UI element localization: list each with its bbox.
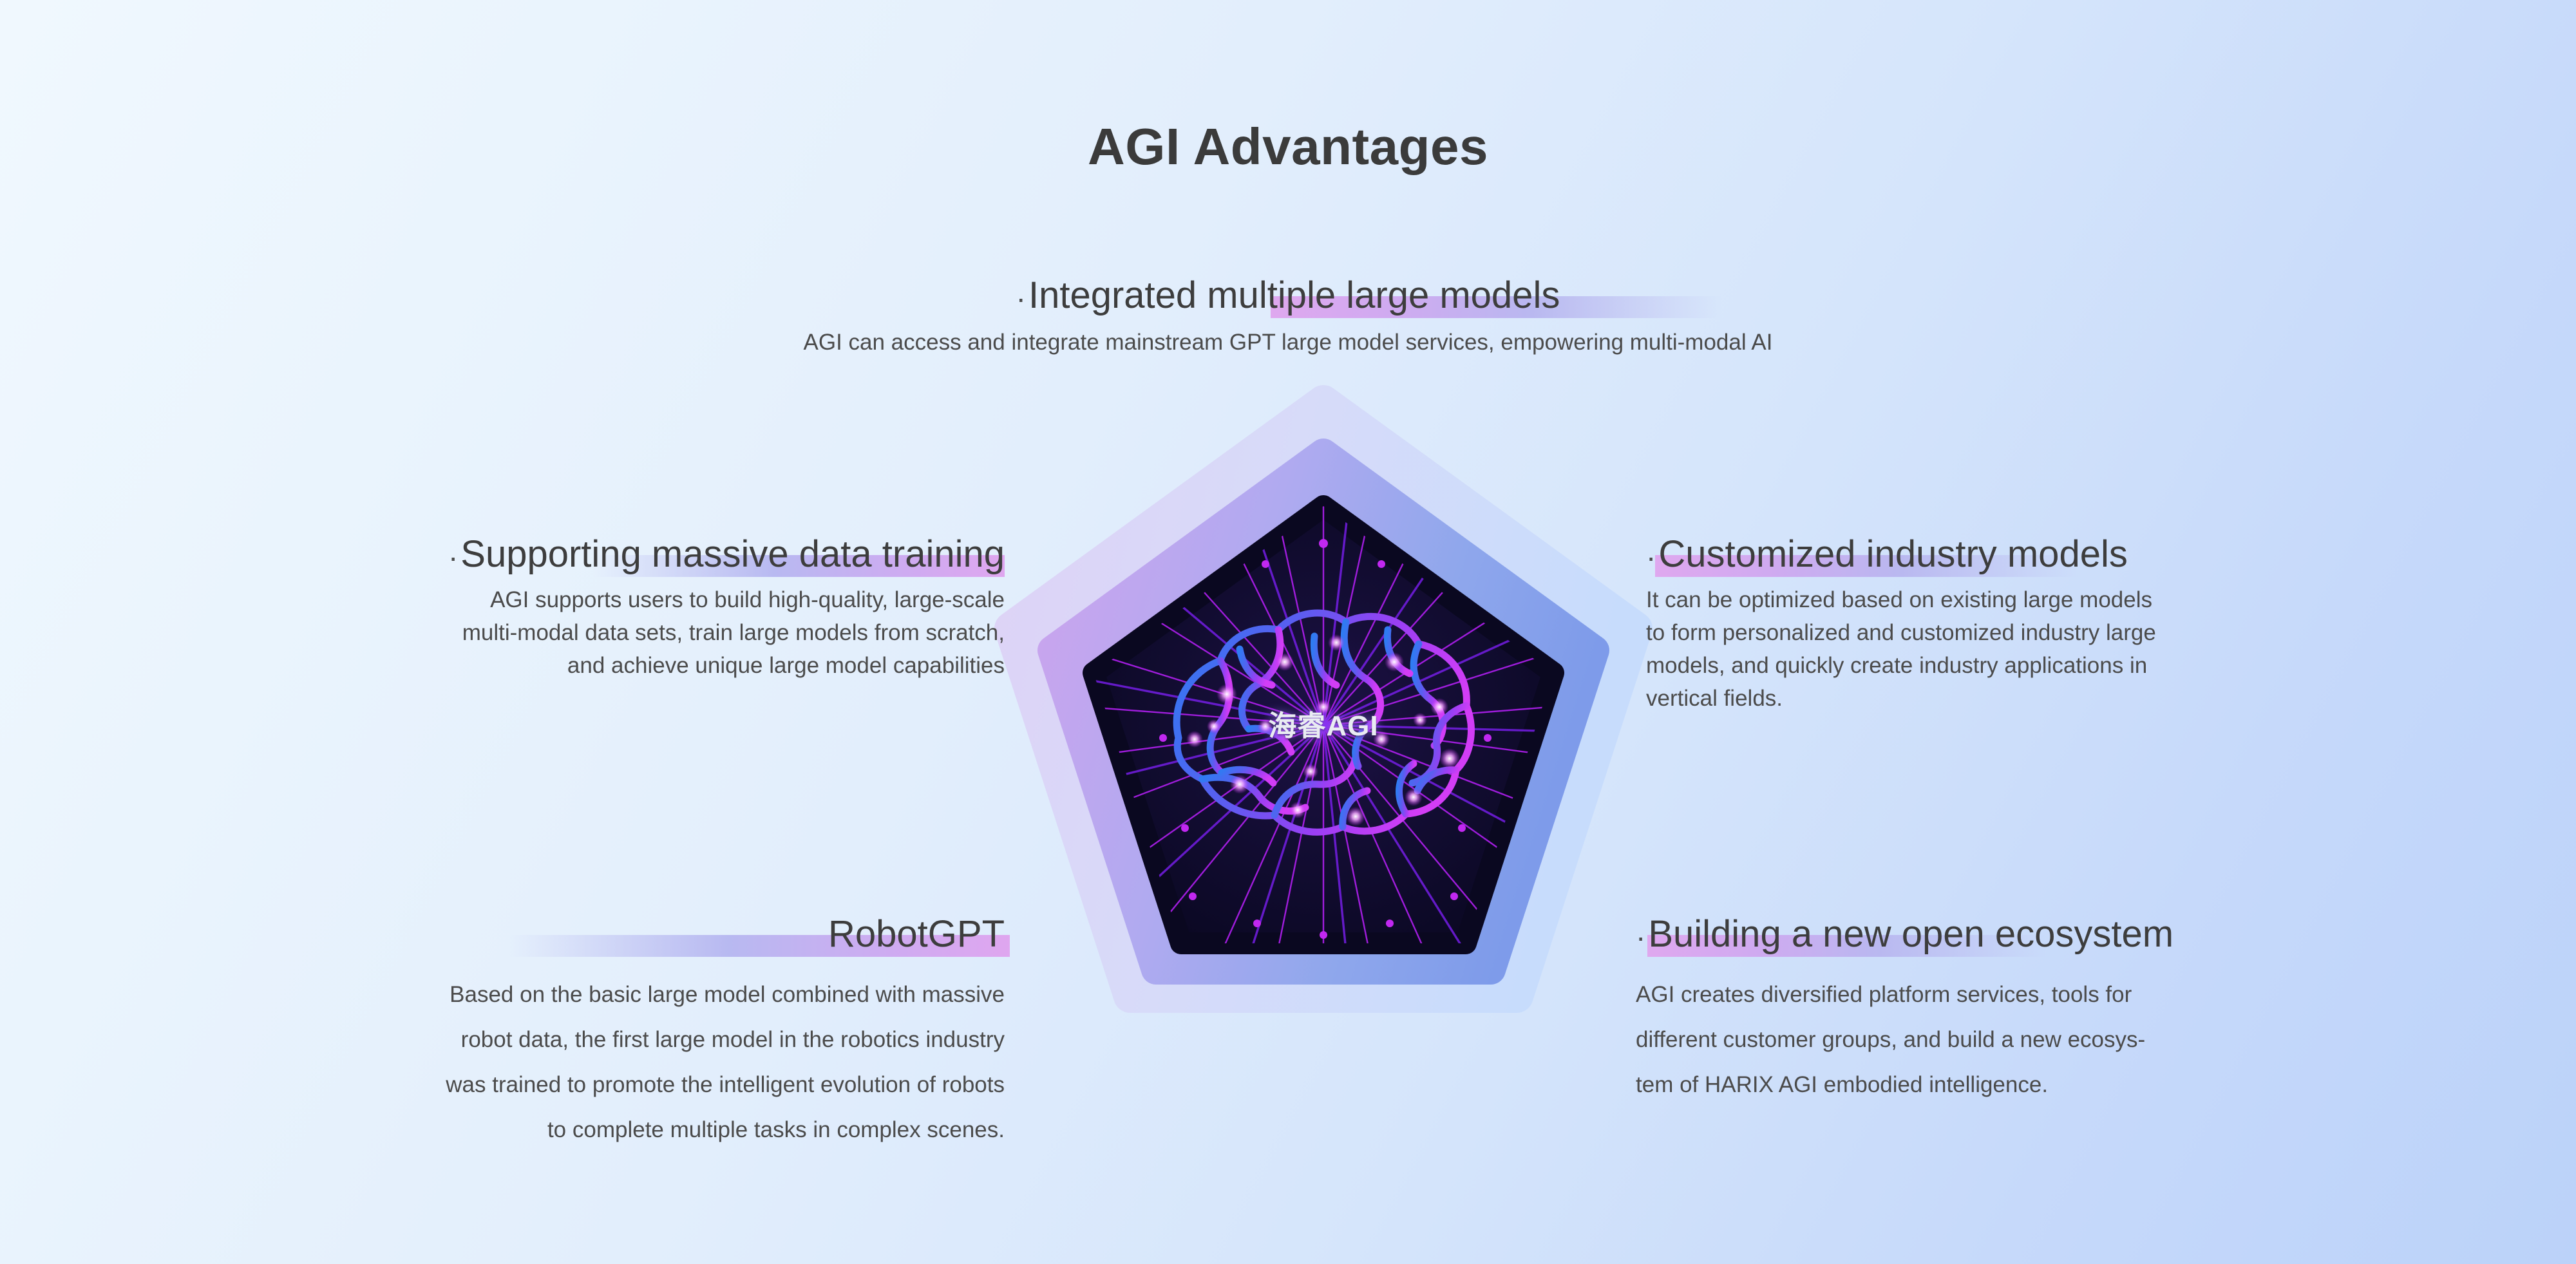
body-line: AGI can access and integrate mainstream …: [0, 326, 2576, 359]
heading-text: RobotGPT: [828, 913, 1005, 955]
body-line: to form personalized and customized indu…: [1646, 616, 2156, 649]
body-line: vertical fields.: [1646, 682, 2156, 715]
body-line: to complete multiple tasks in complex sc…: [446, 1108, 1005, 1153]
page-title: AGI Advantages: [0, 117, 2576, 176]
infographic-stage: AGI Advantages: [0, 0, 2576, 1264]
body-line: different customer groups, and build a n…: [1636, 1017, 2173, 1062]
feature-heading-massive-data-training: ·Supporting massive data training: [448, 536, 1005, 576]
feature-block-massive-data-training: ·Supporting massive data training AGI su…: [448, 536, 1005, 682]
body-line: Based on the basic large model combined …: [446, 972, 1005, 1017]
heading-text: Customized industry models: [1658, 533, 2128, 575]
heading-text: Supporting massive data training: [460, 533, 1005, 575]
heading-text: Building a new open ecosystem: [1648, 913, 2173, 955]
feature-body-integrated-models: AGI can access and integrate mainstream …: [0, 326, 2576, 359]
body-line: AGI supports users to build high-quality…: [448, 583, 1005, 616]
heading-text: Integrated multiple large models: [1028, 274, 1560, 316]
central-pentagon-graphic: 海睿AGI: [992, 377, 1655, 1111]
feature-block-integrated-models: ·Integrated multiple large models AGI ca…: [0, 277, 2576, 359]
body-line: multi-modal data sets, train large model…: [448, 616, 1005, 649]
feature-body-customized-industry-models: It can be optimized based on existing la…: [1646, 583, 2156, 715]
feature-body-open-ecosystem: AGI creates diversified platform service…: [1636, 972, 2173, 1108]
bullet-icon: ·: [816, 920, 826, 954]
body-line: It can be optimized based on existing la…: [1646, 583, 2156, 616]
feature-block-customized-industry-models: ·Customized industry models It can be op…: [1646, 536, 2156, 715]
feature-block-robotgpt: ·RobotGPT Based on the basic large model…: [446, 916, 1005, 1153]
feature-body-robotgpt: Based on the basic large model combined …: [446, 972, 1005, 1153]
feature-heading-open-ecosystem: ·Building a new open ecosystem: [1636, 916, 2173, 956]
feature-body-massive-data-training: AGI supports users to build high-quality…: [448, 583, 1005, 682]
body-line: AGI creates diversified platform service…: [1636, 972, 2173, 1017]
feature-block-open-ecosystem: ·Building a new open ecosystem AGI creat…: [1636, 916, 2173, 1108]
bullet-icon: ·: [1636, 920, 1645, 954]
bullet-icon: ·: [1016, 281, 1026, 315]
feature-heading-customized-industry-models: ·Customized industry models: [1646, 536, 2128, 576]
body-line: tem of HARIX AGI embodied intelligence.: [1636, 1062, 2173, 1108]
bullet-icon: ·: [1646, 540, 1656, 574]
feature-heading-robotgpt: ·RobotGPT: [816, 916, 1005, 956]
feature-heading-integrated-models: ·Integrated multiple large models: [1016, 277, 1560, 317]
body-line: models, and quickly create industry appl…: [1646, 649, 2156, 682]
body-line: robot data, the first large model in the…: [446, 1017, 1005, 1062]
body-line: and achieve unique large model capabilit…: [448, 649, 1005, 682]
bullet-icon: ·: [448, 540, 458, 574]
body-line: was trained to promote the intelligent e…: [446, 1062, 1005, 1108]
